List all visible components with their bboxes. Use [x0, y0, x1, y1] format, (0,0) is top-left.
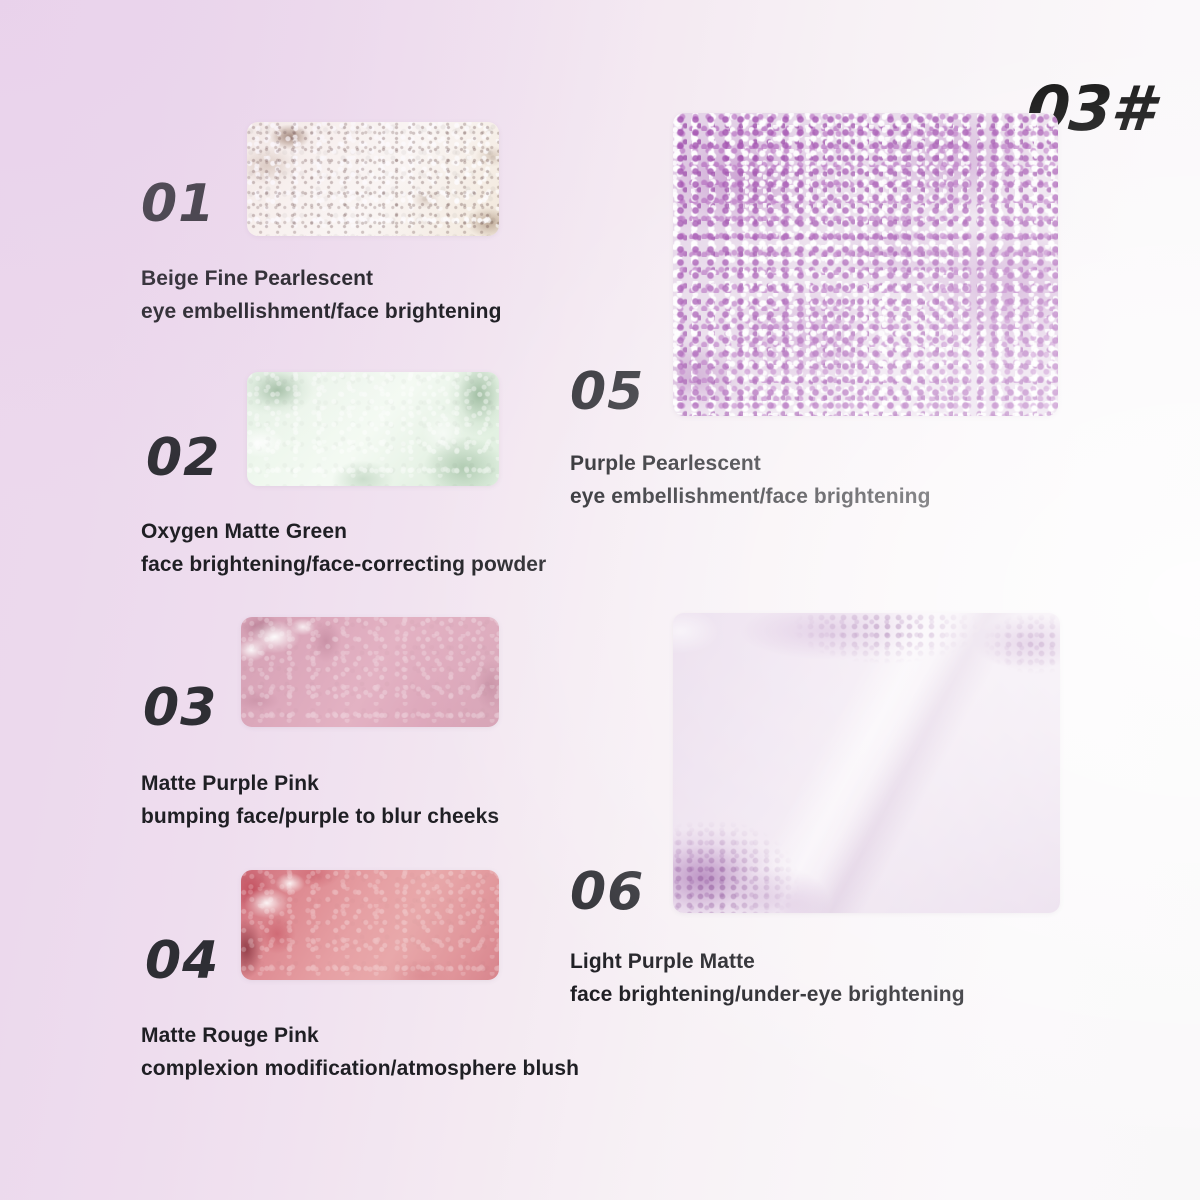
- shade-number-03: 03: [143, 682, 217, 734]
- shade-number-06: 06: [570, 866, 644, 918]
- shade-name-04: Matte Rouge Pink: [141, 1022, 579, 1050]
- shade-caption-03: Matte Purple Pink bumping face/purple to…: [141, 770, 499, 831]
- shade-swatch-04[interactable]: [241, 870, 499, 980]
- swatch-grain-layer: [247, 372, 499, 486]
- shade-use-02: face brightening/face-correcting powder: [141, 551, 546, 579]
- shade-swatch-03[interactable]: [241, 617, 499, 727]
- shade-caption-01: Beige Fine Pearlescent eye embellishment…: [141, 265, 502, 326]
- swatch-speck-layer: [247, 122, 499, 236]
- shade-caption-04: Matte Rouge Pink complexion modification…: [141, 1022, 579, 1083]
- shade-use-03: bumping face/purple to blur cheeks: [141, 803, 499, 831]
- shade-caption-05: Purple Pearlescent eye embellishment/fac…: [570, 450, 931, 511]
- shade-caption-02: Oxygen Matte Green face brightening/face…: [141, 518, 546, 579]
- swatch-grain-layer: [241, 617, 499, 727]
- shade-use-06: face brightening/under-eye brightening: [570, 981, 965, 1009]
- shade-number-04: 04: [145, 935, 219, 987]
- shade-number-01: 01: [141, 178, 215, 230]
- shade-caption-06: Light Purple Matte face brightening/unde…: [570, 948, 965, 1009]
- shade-chart-poster: 03# 01 Beige Fine Pearlescent eye embell…: [0, 0, 1200, 1200]
- shade-swatch-02[interactable]: [247, 372, 499, 486]
- shade-swatch-01[interactable]: [247, 122, 499, 236]
- shade-swatch-05[interactable]: [673, 113, 1058, 416]
- shade-name-05: Purple Pearlescent: [570, 450, 931, 478]
- shade-use-04: complexion modification/atmosphere blush: [141, 1055, 579, 1083]
- shade-number-02: 02: [146, 432, 220, 484]
- swatch-sparkle-layer: [673, 113, 1058, 416]
- shade-swatch-06[interactable]: [673, 613, 1060, 913]
- swatch-crumb-layer: [673, 613, 1060, 913]
- shade-name-06: Light Purple Matte: [570, 948, 965, 976]
- shade-use-05: eye embellishment/face brightening: [570, 483, 931, 511]
- shade-name-03: Matte Purple Pink: [141, 770, 499, 798]
- shade-name-02: Oxygen Matte Green: [141, 518, 546, 546]
- shade-number-05: 05: [570, 366, 644, 418]
- shade-use-01: eye embellishment/face brightening: [141, 298, 502, 326]
- swatch-grain-layer: [241, 870, 499, 980]
- shade-name-01: Beige Fine Pearlescent: [141, 265, 502, 293]
